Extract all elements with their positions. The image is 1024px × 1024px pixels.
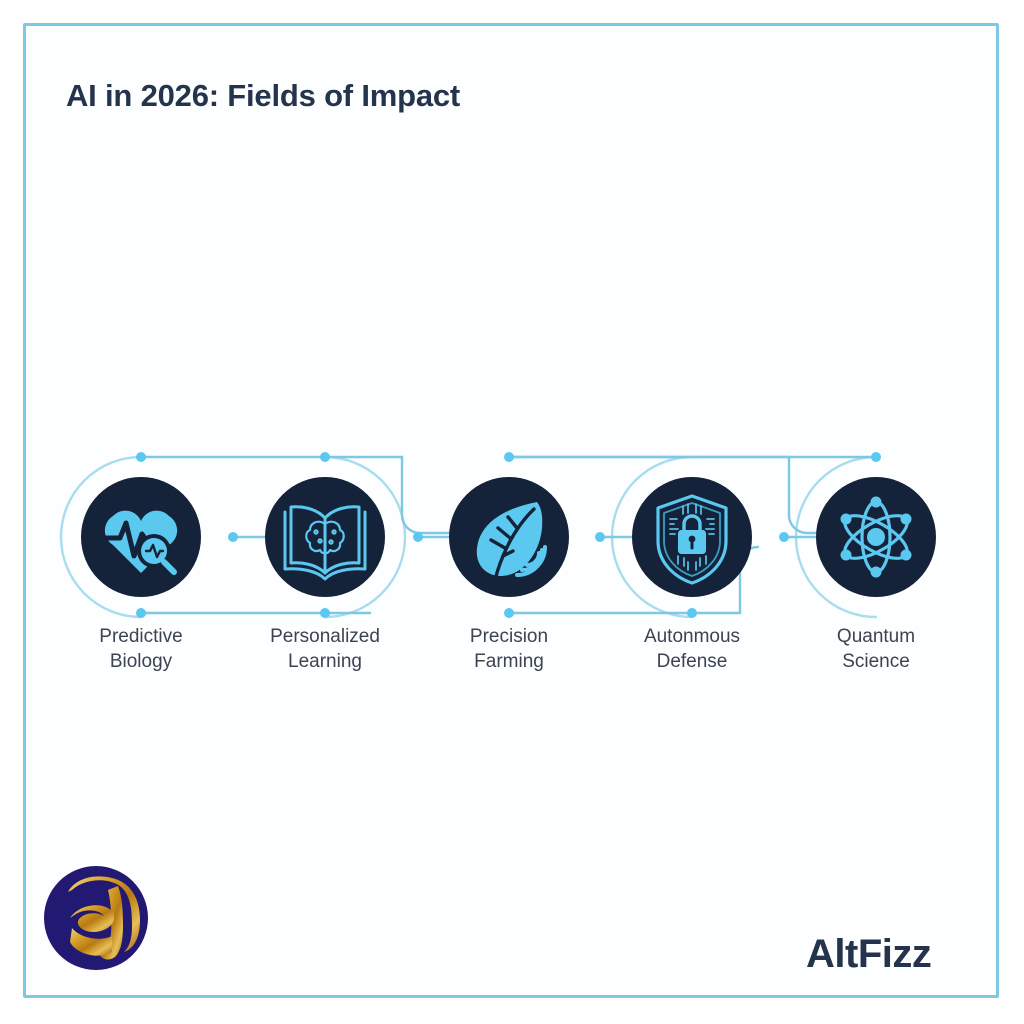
node-autonmous-defense[interactable] (632, 477, 752, 597)
connector-dot (320, 452, 330, 462)
node-personalized-learning[interactable] (265, 477, 385, 597)
connector-dot (595, 532, 605, 542)
altfizz-logo (44, 866, 148, 970)
connector-dot (504, 608, 514, 618)
connector-dot (687, 608, 697, 618)
brand-wordmark: AltFizz (806, 932, 931, 977)
connector-dot (228, 532, 238, 542)
connector-dot (413, 532, 423, 542)
node-label-predictive-biology: Predictive Biology (56, 624, 226, 674)
node-label-autonmous-defense: Autonmous Defense (607, 624, 777, 674)
connector-dot (871, 452, 881, 462)
process-flow-diagram (0, 0, 1024, 1024)
node-quantum-science[interactable] (816, 477, 936, 597)
connector-dot (136, 608, 146, 618)
infographic-canvas: AI in 2026: Fields of Impact (0, 0, 1024, 1024)
node-label-quantum-science: Quantum Science (791, 624, 961, 674)
node-label-personalized-learning: Personalized Learning (240, 624, 410, 674)
connector-dot (320, 608, 330, 618)
node-precision-farming[interactable] (449, 477, 569, 597)
connector-dot (779, 532, 789, 542)
node-label-precision-farming: Precision Farming (424, 624, 594, 674)
connector-dot (504, 452, 514, 462)
connector-dot (136, 452, 146, 462)
node-predictive-biology[interactable] (81, 477, 201, 597)
